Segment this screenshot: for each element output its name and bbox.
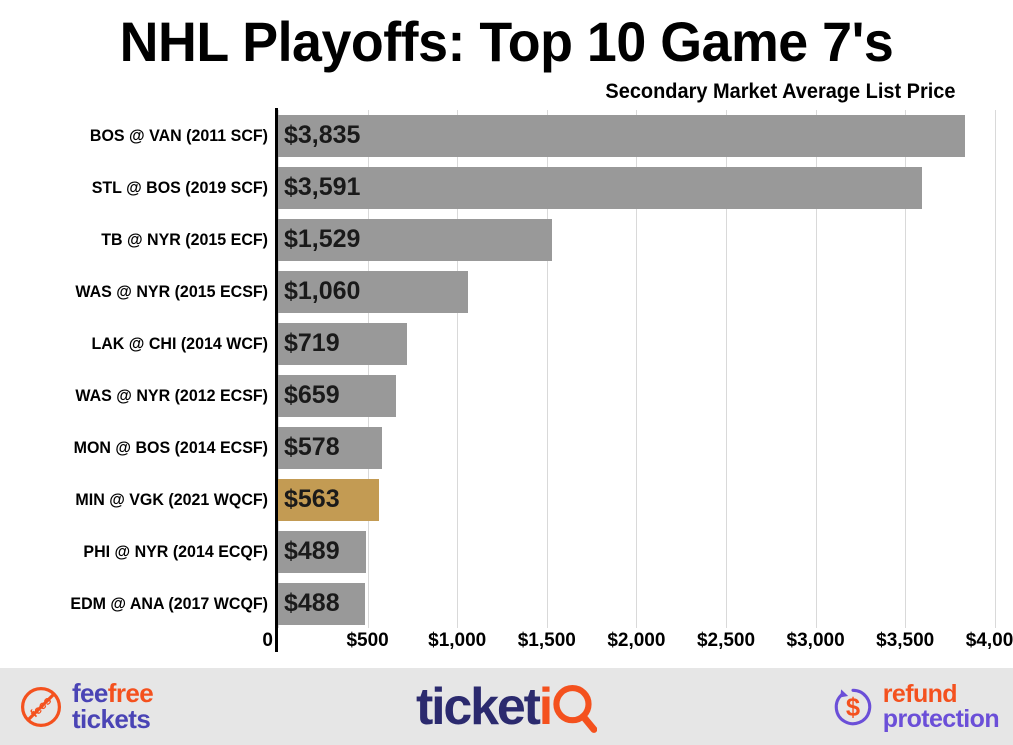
refund-line1-text: refund: [883, 682, 999, 706]
x-tick-label: 0: [262, 630, 278, 652]
bar-value-label: $719: [284, 323, 340, 365]
bar-row: STL @ BOS (2019 SCF)$3,591: [0, 167, 1013, 219]
refund-protection-logo[interactable]: $ refund protection: [831, 668, 999, 745]
x-tick-label: $3,000: [787, 630, 845, 652]
bar-chart: BOS @ VAN (2011 SCF)$3,835STL @ BOS (201…: [0, 0, 1013, 668]
x-tick-label: $2,000: [607, 630, 665, 652]
bar: [278, 167, 922, 209]
ticketiq-i-text: i: [539, 678, 551, 736]
x-tick-label: $1,000: [428, 630, 486, 652]
bar-row: LAK @ CHI (2014 WCF)$719: [0, 323, 1013, 375]
refund-dollar-icon: $: [831, 685, 875, 729]
bar-row: EDM @ ANA (2017 WCQF)$488: [0, 583, 1013, 635]
category-label: LAK @ CHI (2014 WCF): [8, 323, 268, 365]
x-tick-label: $3,500: [876, 630, 934, 652]
category-label: WAS @ NYR (2012 ECSF): [8, 375, 268, 417]
bar: [278, 115, 965, 157]
bar-row: TB @ NYR (2015 ECF)$1,529: [0, 219, 1013, 271]
category-label: MIN @ VGK (2021 WQCF): [8, 479, 268, 521]
bar-value-label: $3,835: [284, 115, 360, 157]
bar-row: WAS @ NYR (2012 ECSF)$659: [0, 375, 1013, 427]
ticketiq-wordmark: ticketi: [416, 679, 597, 735]
category-label: BOS @ VAN (2011 SCF): [8, 115, 268, 157]
x-tick-label: $1,500: [518, 630, 576, 652]
bar-value-label: $578: [284, 427, 340, 469]
bar-row: BOS @ VAN (2011 SCF)$3,835: [0, 115, 1013, 167]
refund-line2-text: protection: [883, 707, 999, 731]
x-tick-label: $4,000: [966, 630, 1013, 652]
bar-value-label: $488: [284, 583, 340, 625]
category-label: MON @ BOS (2014 ECSF): [8, 427, 268, 469]
bar-row: PHI @ NYR (2014 ECQF)$489: [0, 531, 1013, 583]
magnifier-q-icon: [551, 682, 597, 734]
x-tick-label: $500: [346, 630, 388, 652]
footer-branding-bar: fees feefree tickets ticketi: [0, 668, 1013, 745]
refund-wordmark: refund protection: [883, 682, 999, 731]
chart-page: NHL Playoffs: Top 10 Game 7's Secondary …: [0, 0, 1013, 745]
bar-row: WAS @ NYR (2015 ECSF)$1,060: [0, 271, 1013, 323]
svg-text:$: $: [846, 693, 860, 721]
category-label: TB @ NYR (2015 ECF): [8, 219, 268, 261]
category-label: WAS @ NYR (2015 ECSF): [8, 271, 268, 313]
category-label: STL @ BOS (2019 SCF): [8, 167, 268, 209]
bar-row: MIN @ VGK (2021 WQCF)$563: [0, 479, 1013, 531]
category-label: EDM @ ANA (2017 WCQF): [8, 583, 268, 625]
ticketiq-ticket-text: ticket: [416, 678, 539, 736]
bar-value-label: $1,529: [284, 219, 360, 261]
bar-value-label: $489: [284, 531, 340, 573]
bar-value-label: $563: [284, 479, 340, 521]
category-label: PHI @ NYR (2014 ECQF): [8, 531, 268, 573]
bar-value-label: $3,591: [284, 167, 360, 209]
bar-value-label: $1,060: [284, 271, 360, 313]
bar-value-label: $659: [284, 375, 340, 417]
bar-row: MON @ BOS (2014 ECSF)$578: [0, 427, 1013, 479]
x-tick-label: $2,500: [697, 630, 755, 652]
